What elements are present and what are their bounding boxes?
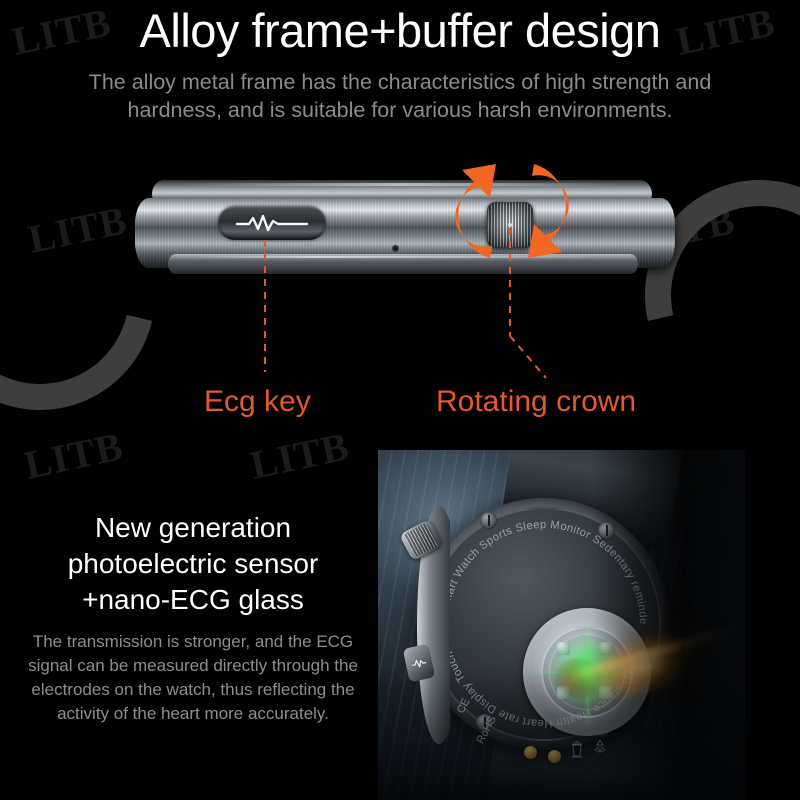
section-body-text: The transmission is stronger, and the EC… [14, 630, 372, 726]
ecg-key-callout: Ecg key [204, 385, 311, 419]
watch-back-photo: Smart Watch Sports Sleep Monitor Sedenta… [378, 450, 745, 800]
section-title-line-1: New generation [18, 510, 368, 546]
section-title-line-3: +nano-ECG glass [18, 582, 368, 618]
watermark-litb: LITB [246, 422, 353, 489]
page-subtitle: The alloy metal frame has the characteri… [60, 68, 740, 124]
section-title: New generation photoelectric sensor +nan… [18, 510, 368, 618]
rotating-crown-callout: Rotating crown [436, 385, 636, 419]
rotating-crown-leader-line [430, 150, 630, 400]
section-title-line-2: photoelectric sensor [18, 546, 368, 582]
product-infographic: LITB LITB LITB LITB LITB LITB Alloy fram… [0, 0, 800, 800]
watch-side-profile-illustration [0, 150, 800, 430]
ecg-key-leader-line [0, 150, 400, 390]
photo-vignette-bottom [378, 667, 745, 800]
page-title: Alloy frame+buffer design [0, 2, 800, 60]
watermark-litb: LITB [20, 422, 127, 489]
